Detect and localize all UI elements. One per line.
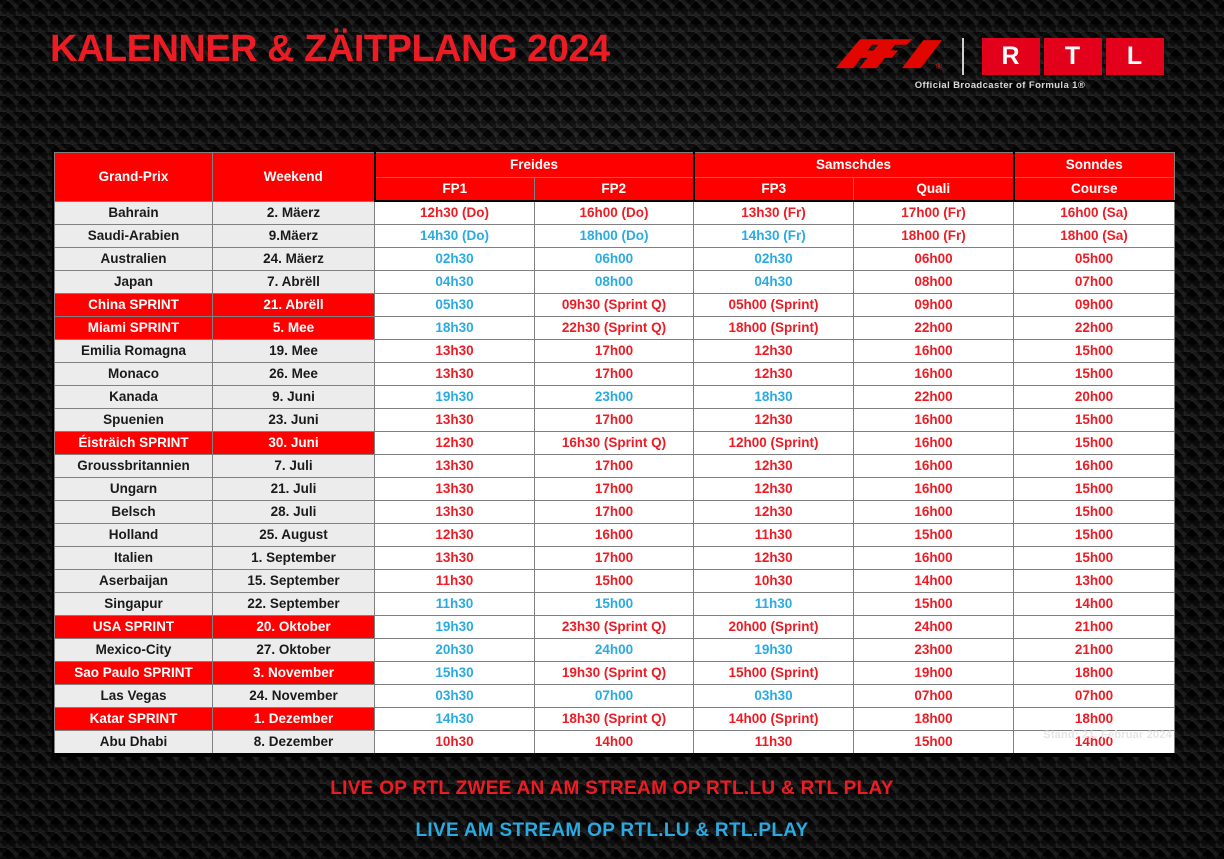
cell-grand-prix: Katar SPRINT [55,708,213,731]
cell-fp3: 14h30 (Fr) [694,225,854,248]
cell-weekend: 26. Mee [213,363,375,386]
cell-fp3: 12h00 (Sprint) [694,432,854,455]
cell-fp2: 17h00 [535,340,694,363]
cell-fp3: 12h30 [694,409,854,432]
group-header-row: Grand-Prix Weekend Freides Samschdes Son… [55,153,1175,178]
f1-calendar-page: KALENNER & ZÄITPLANG 2024 ® R T L Offici… [0,0,1224,859]
cell-fp1: 13h30 [375,409,535,432]
cell-weekend: 19. Mee [213,340,375,363]
cell-fp2: 06h00 [535,248,694,271]
cell-course: 07h00 [1014,685,1175,708]
table-row: Aserbaijan15. September11h3015h0010h3014… [55,570,1175,593]
cell-quali: 16h00 [854,478,1014,501]
table-head: Grand-Prix Weekend Freides Samschdes Son… [55,153,1175,202]
schedule-table-wrapper: Grand-Prix Weekend Freides Samschdes Son… [52,150,1172,757]
cell-grand-prix: Mexico-City [55,639,213,662]
cell-fp1: 14h30 (Do) [375,225,535,248]
col-header-fp2: FP2 [535,178,694,202]
cell-quali: 16h00 [854,455,1014,478]
schedule-table: Grand-Prix Weekend Freides Samschdes Son… [54,152,1175,755]
cell-quali: 18h00 (Fr) [854,225,1014,248]
cell-grand-prix: Saudi-Arabien [55,225,213,248]
cell-weekend: 23. Juni [213,409,375,432]
cell-fp2: 24h00 [535,639,694,662]
table-row: China SPRINT21. Abrëll05h3009h30 (Sprint… [55,294,1175,317]
cell-fp2: 16h00 [535,524,694,547]
cell-grand-prix: Groussbritannien [55,455,213,478]
cell-course: 13h00 [1014,570,1175,593]
cell-fp3: 18h30 [694,386,854,409]
cell-fp1: 05h30 [375,294,535,317]
cell-grand-prix: Belsch [55,501,213,524]
cell-fp3: 14h00 (Sprint) [694,708,854,731]
cell-course: 21h00 [1014,639,1175,662]
rtl-letter-r: R [982,38,1040,75]
cell-quali: 14h00 [854,570,1014,593]
cell-quali: 07h00 [854,685,1014,708]
cell-grand-prix: Éisträich SPRINT [55,432,213,455]
cell-fp3: 12h30 [694,340,854,363]
cell-course: 15h00 [1014,478,1175,501]
cell-weekend: 9.Mäerz [213,225,375,248]
cell-weekend: 28. Juli [213,501,375,524]
cell-weekend: 1. Dezember [213,708,375,731]
cell-fp1: 13h30 [375,340,535,363]
cell-weekend: 21. Juli [213,478,375,501]
cell-quali: 16h00 [854,432,1014,455]
table-row: Spuenien23. Juni13h3017h0012h3016h0015h0… [55,409,1175,432]
cell-fp3: 20h00 (Sprint) [694,616,854,639]
cell-fp1: 19h30 [375,386,535,409]
cell-grand-prix: Japan [55,271,213,294]
cell-grand-prix: Holland [55,524,213,547]
cell-grand-prix: Abu Dhabi [55,731,213,755]
legend-stream-only: LIVE AM STREAM OP RTL.LU & RTL.PLAY [0,820,1224,842]
cell-quali: 09h00 [854,294,1014,317]
table-row: Ungarn21. Juli13h3017h0012h3016h0015h00 [55,478,1175,501]
cell-course: 22h00 [1014,317,1175,340]
cell-quali: 22h00 [854,386,1014,409]
cell-grand-prix: China SPRINT [55,294,213,317]
cell-fp3: 19h30 [694,639,854,662]
table-row: Bahrain2. Mäerz12h30 (Do)16h00 (Do)13h30… [55,201,1175,225]
cell-fp2: 17h00 [535,501,694,524]
cell-fp3: 12h30 [694,363,854,386]
cell-weekend: 7. Juli [213,455,375,478]
cell-fp3: 11h30 [694,593,854,616]
cell-quali: 17h00 (Fr) [854,201,1014,225]
cell-fp1: 04h30 [375,271,535,294]
cell-fp3: 12h30 [694,501,854,524]
table-row: Katar SPRINT1. Dezember14h3018h30 (Sprin… [55,708,1175,731]
cell-fp2: 17h00 [535,409,694,432]
cell-fp1: 13h30 [375,363,535,386]
cell-grand-prix: Singapur [55,593,213,616]
cell-fp2: 17h00 [535,478,694,501]
brand-divider [962,38,964,75]
cell-grand-prix: Spuenien [55,409,213,432]
cell-grand-prix: Monaco [55,363,213,386]
col-header-weekend: Weekend [213,153,375,202]
cell-weekend: 21. Abrëll [213,294,375,317]
cell-fp3: 12h30 [694,478,854,501]
cell-fp1: 13h30 [375,478,535,501]
cell-fp1: 12h30 (Do) [375,201,535,225]
cell-fp2: 14h00 [535,731,694,755]
cell-grand-prix: Sao Paulo SPRINT [55,662,213,685]
cell-fp2: 18h30 (Sprint Q) [535,708,694,731]
group-header-samschdes: Samschdes [694,153,1014,178]
cell-quali: 16h00 [854,409,1014,432]
cell-weekend: 2. Mäerz [213,201,375,225]
cell-course: 15h00 [1014,501,1175,524]
cell-weekend: 20. Oktober [213,616,375,639]
cell-fp3: 15h00 (Sprint) [694,662,854,685]
cell-course: 21h00 [1014,616,1175,639]
cell-fp3: 12h30 [694,455,854,478]
cell-fp1: 11h30 [375,570,535,593]
table-row: Australien24. Mäerz02h3006h0002h3006h000… [55,248,1175,271]
cell-fp1: 13h30 [375,455,535,478]
group-header-freides: Freides [375,153,694,178]
cell-course: 15h00 [1014,409,1175,432]
cell-fp2: 18h00 (Do) [535,225,694,248]
col-header-course: Course [1014,178,1175,202]
table-row: Saudi-Arabien9.Mäerz14h30 (Do)18h00 (Do)… [55,225,1175,248]
registered-mark: ® [936,62,942,71]
cell-fp1: 20h30 [375,639,535,662]
cell-weekend: 3. November [213,662,375,685]
cell-course: 07h00 [1014,271,1175,294]
cell-fp3: 05h00 (Sprint) [694,294,854,317]
cell-grand-prix: Miami SPRINT [55,317,213,340]
cell-quali: 15h00 [854,593,1014,616]
cell-course: 15h00 [1014,363,1175,386]
rtl-letter-t: T [1044,38,1102,75]
cell-fp3: 12h30 [694,547,854,570]
cell-grand-prix: Italien [55,547,213,570]
cell-quali: 16h00 [854,501,1014,524]
cell-weekend: 25. August [213,524,375,547]
cell-course: 05h00 [1014,248,1175,271]
cell-course: 16h00 [1014,455,1175,478]
cell-quali: 06h00 [854,248,1014,271]
brand-bar: ® R T L Official Broadcaster of Formula … [832,36,1168,92]
table-row: Singapur22. September11h3015h0011h3015h0… [55,593,1175,616]
cell-weekend: 30. Juni [213,432,375,455]
cell-weekend: 24. Mäerz [213,248,375,271]
cell-fp1: 12h30 [375,524,535,547]
cell-quali: 15h00 [854,731,1014,755]
cell-quali: 15h00 [854,524,1014,547]
cell-course: 15h00 [1014,524,1175,547]
cell-weekend: 7. Abrëll [213,271,375,294]
group-header-sonndes: Sonndes [1014,153,1175,178]
cell-course: 16h00 (Sa) [1014,201,1175,225]
cell-fp2: 09h30 (Sprint Q) [535,294,694,317]
cell-grand-prix: Aserbaijan [55,570,213,593]
cell-course: 18h00 [1014,662,1175,685]
cell-fp2: 16h30 (Sprint Q) [535,432,694,455]
cell-fp2: 15h00 [535,570,694,593]
table-row: Groussbritannien7. Juli13h3017h0012h3016… [55,455,1175,478]
cell-weekend: 9. Juni [213,386,375,409]
table-row: Holland25. August12h3016h0011h3015h0015h… [55,524,1175,547]
cell-grand-prix: Kanada [55,386,213,409]
table-row: Abu Dhabi8. Dezember10h3014h0011h3015h00… [55,731,1175,755]
cell-fp2: 23h00 [535,386,694,409]
cell-quali: 22h00 [854,317,1014,340]
cell-quali: 16h00 [854,340,1014,363]
table-row: Japan7. Abrëll04h3008h0004h3008h0007h00 [55,271,1175,294]
cell-fp3: 03h30 [694,685,854,708]
cell-course: 14h00 [1014,593,1175,616]
cell-fp3: 18h00 (Sprint) [694,317,854,340]
table-row: Las Vegas24. November03h3007h0003h3007h0… [55,685,1175,708]
cell-fp1: 14h30 [375,708,535,731]
legend-rtl-zwee: LIVE OP RTL ZWEE AN AM STREAM OP RTL.LU … [0,778,1224,800]
table-row: USA SPRINT20. Oktober19h3023h30 (Sprint … [55,616,1175,639]
cell-weekend: 1. September [213,547,375,570]
col-header-fp3: FP3 [694,178,854,202]
cell-fp2: 16h00 (Do) [535,201,694,225]
cell-course: 15h00 [1014,432,1175,455]
cell-weekend: 8. Dezember [213,731,375,755]
cell-grand-prix: USA SPRINT [55,616,213,639]
rtl-logo: R T L [982,38,1164,75]
col-header-grand-prix: Grand-Prix [55,153,213,202]
cell-fp1: 02h30 [375,248,535,271]
col-header-quali: Quali [854,178,1014,202]
cell-fp1: 10h30 [375,731,535,755]
table-row: Italien1. September13h3017h0012h3016h001… [55,547,1175,570]
cell-fp3: 10h30 [694,570,854,593]
cell-grand-prix: Las Vegas [55,685,213,708]
col-header-fp1: FP1 [375,178,535,202]
table-row: Emilia Romagna19. Mee13h3017h0012h3016h0… [55,340,1175,363]
table-row: Éisträich SPRINT30. Juni12h3016h30 (Spri… [55,432,1175,455]
cell-fp2: 23h30 (Sprint Q) [535,616,694,639]
cell-fp2: 22h30 (Sprint Q) [535,317,694,340]
cell-fp3: 04h30 [694,271,854,294]
cell-fp2: 07h00 [535,685,694,708]
cell-grand-prix: Australien [55,248,213,271]
cell-fp3: 11h30 [694,524,854,547]
table-row: Miami SPRINT5. Mee18h3022h30 (Sprint Q)1… [55,317,1175,340]
cell-weekend: 22. September [213,593,375,616]
cell-grand-prix: Emilia Romagna [55,340,213,363]
cell-course: 15h00 [1014,547,1175,570]
table-row: Sao Paulo SPRINT3. November15h3019h30 (S… [55,662,1175,685]
cell-fp1: 12h30 [375,432,535,455]
cell-fp2: 17h00 [535,547,694,570]
rtl-letter-l: L [1106,38,1164,75]
table-row: Monaco26. Mee13h3017h0012h3016h0015h00 [55,363,1175,386]
cell-quali: 23h00 [854,639,1014,662]
cell-fp2: 08h00 [535,271,694,294]
cell-fp1: 15h30 [375,662,535,685]
table-row: Mexico-City27. Oktober20h3024h0019h3023h… [55,639,1175,662]
cell-quali: 18h00 [854,708,1014,731]
cell-fp2: 19h30 (Sprint Q) [535,662,694,685]
cell-fp3: 11h30 [694,731,854,755]
cell-fp2: 17h00 [535,363,694,386]
cell-fp1: 11h30 [375,593,535,616]
cell-quali: 24h00 [854,616,1014,639]
f1-logo-icon [832,38,944,74]
cell-fp1: 13h30 [375,501,535,524]
cell-fp1: 19h30 [375,616,535,639]
broadcaster-caption: Official Broadcaster of Formula 1® [832,80,1168,91]
cell-fp1: 13h30 [375,547,535,570]
cell-quali: 08h00 [854,271,1014,294]
cell-fp3: 02h30 [694,248,854,271]
cell-fp2: 17h00 [535,455,694,478]
cell-course: 18h00 (Sa) [1014,225,1175,248]
cell-course: 18h00 [1014,708,1175,731]
cell-grand-prix: Ungarn [55,478,213,501]
table-row: Belsch28. Juli13h3017h0012h3016h0015h00 [55,501,1175,524]
cell-quali: 16h00 [854,363,1014,386]
cell-weekend: 15. September [213,570,375,593]
cell-fp1: 03h30 [375,685,535,708]
page-title: KALENNER & ZÄITPLANG 2024 [50,28,610,71]
cell-grand-prix: Bahrain [55,201,213,225]
cell-quali: 16h00 [854,547,1014,570]
cell-weekend: 24. November [213,685,375,708]
cell-fp1: 18h30 [375,317,535,340]
cell-fp2: 15h00 [535,593,694,616]
cell-course: 20h00 [1014,386,1175,409]
cell-weekend: 27. Oktober [213,639,375,662]
cell-fp3: 13h30 (Fr) [694,201,854,225]
stand-date: Stand: 21. Februar 2024 [1043,729,1172,741]
cell-weekend: 5. Mee [213,317,375,340]
cell-quali: 19h00 [854,662,1014,685]
table-body: Bahrain2. Mäerz12h30 (Do)16h00 (Do)13h30… [55,201,1175,754]
cell-course: 15h00 [1014,340,1175,363]
table-row: Kanada9. Juni19h3023h0018h3022h0020h00 [55,386,1175,409]
cell-course: 09h00 [1014,294,1175,317]
